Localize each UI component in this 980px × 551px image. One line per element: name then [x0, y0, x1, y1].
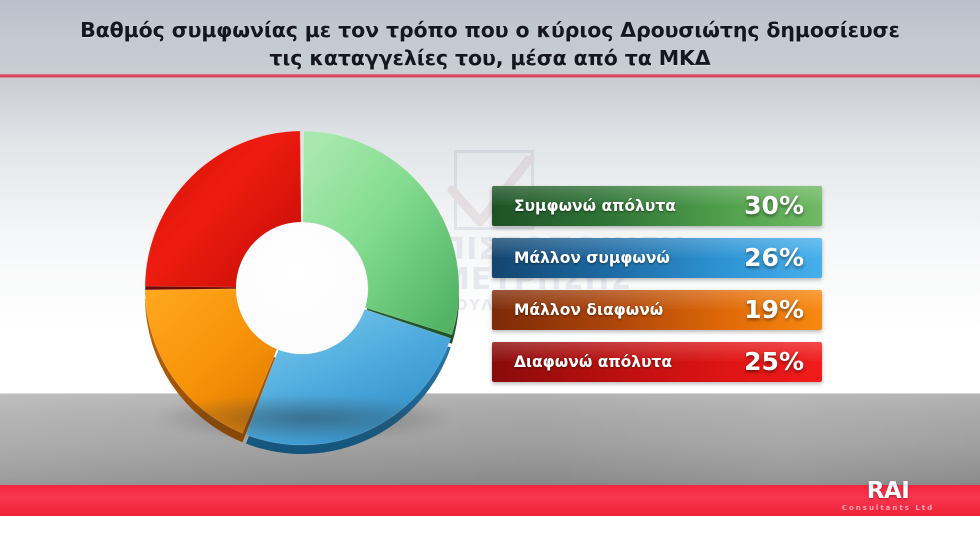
legend-row-agree-strongly[interactable]: Συμφωνώ απόλυτα 30%	[492, 186, 822, 226]
legend-value: 19%	[744, 290, 804, 330]
legend-row-disagree-strongly[interactable]: Διαφωνώ απόλυτα 25%	[492, 342, 822, 382]
legend-label: Μάλλον διαφωνώ	[514, 290, 663, 330]
brand-logo-mark: RAI	[832, 480, 944, 503]
page-title-line-2: τις καταγγελίες του, μέσα από τα ΜΚΔ	[0, 44, 980, 72]
brand-logo: RAI Consultants Ltd	[832, 480, 944, 514]
legend-value: 26%	[744, 238, 804, 278]
legend: Συμφωνώ απόλυτα 30% Μάλλον συμφωνώ 26% Μ…	[492, 186, 822, 394]
header-divider	[0, 74, 980, 78]
slide-root: ΠΙΣΤΟΠΟΙΗΣΗ ΜΕΤΡΗΣΗΣ ΒΟΥΛΕΥΤΙΚΕΣ ΕΚΛΟΓΕΣ…	[0, 0, 980, 551]
donut-chart: Συμφωνώ απόλυτα 30%Μάλλον συμφωνώ 26%Μάλ…	[138, 126, 468, 456]
legend-label: Μάλλον συμφωνώ	[514, 238, 670, 278]
legend-value: 25%	[744, 342, 804, 382]
page-title-line-1: Βαθμός συμφωνίας με τον τρόπο που ο κύρι…	[80, 18, 900, 42]
legend-label: Συμφωνώ απόλυτα	[514, 186, 676, 226]
brand-logo-subtitle: Consultants Ltd	[832, 503, 944, 513]
legend-value: 30%	[744, 186, 804, 226]
donut-shadow	[158, 396, 448, 440]
legend-row-agree-somewhat[interactable]: Μάλλον συμφωνώ 26%	[492, 238, 822, 278]
page-title: Βαθμός συμφωνίας με τον τρόπο που ο κύρι…	[0, 16, 980, 72]
legend-label: Διαφωνώ απόλυτα	[514, 342, 672, 382]
legend-row-disagree-somewhat[interactable]: Μάλλον διαφωνώ 19%	[492, 290, 822, 330]
donut-hole	[236, 222, 368, 354]
footer-white-strip	[0, 516, 980, 551]
